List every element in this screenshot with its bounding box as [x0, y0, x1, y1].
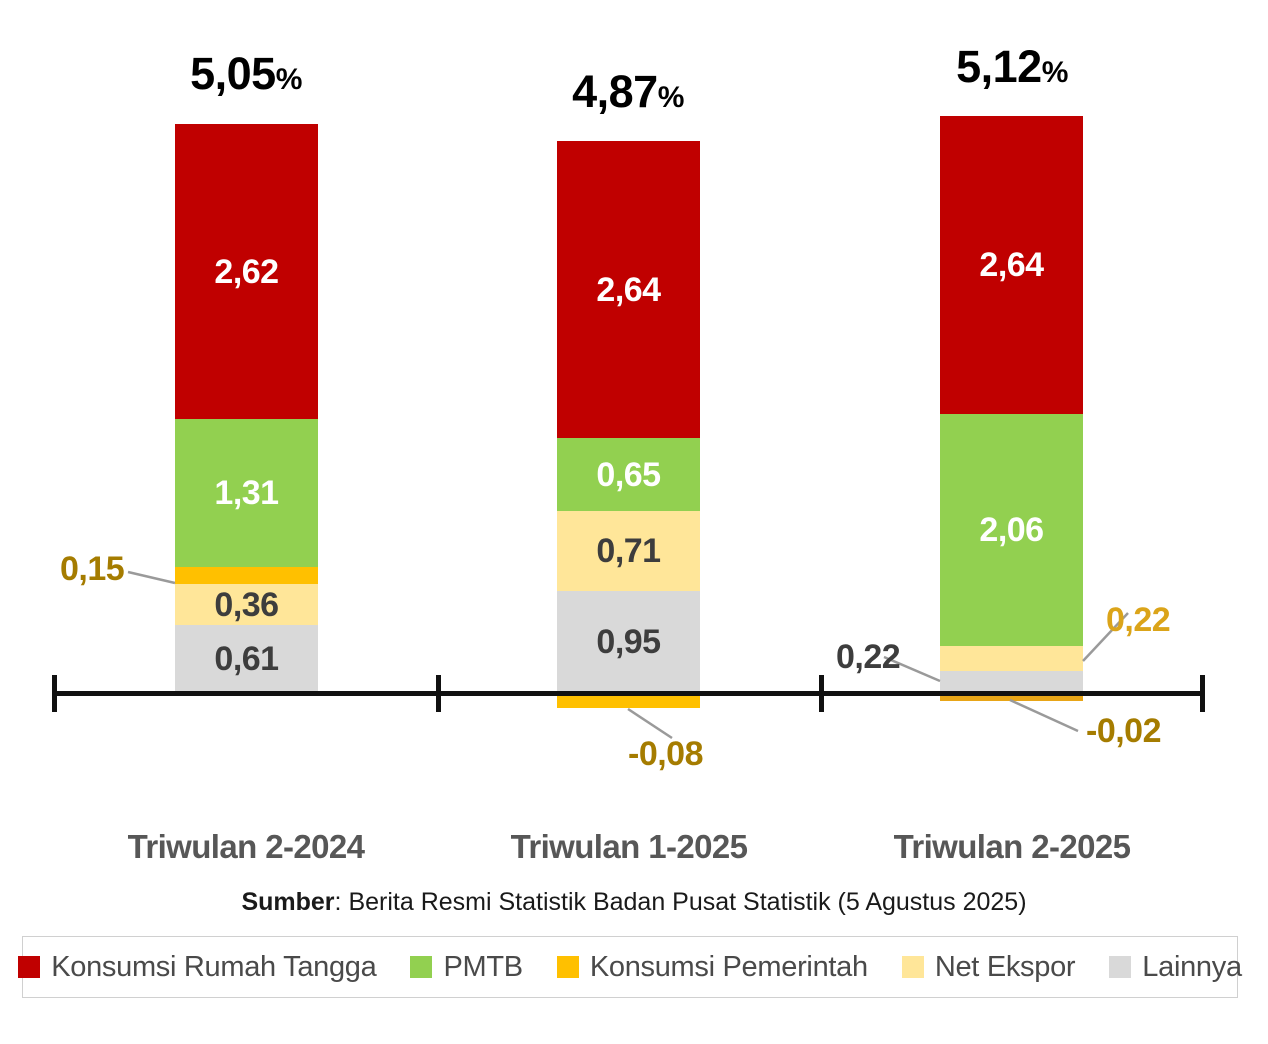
- legend-label: Net Ekspor: [935, 951, 1075, 984]
- bar-total-percent-2: %: [658, 81, 684, 114]
- source-text: : Berita Resmi Statistik Badan Pusat Sta…: [335, 888, 1027, 916]
- bar-total-label-3: 5,12%: [882, 41, 1142, 93]
- legend-swatch-icon: [18, 956, 40, 978]
- legend-item-konsumsi-rumah-tangga[interactable]: Konsumsi Rumah Tangga: [18, 951, 376, 984]
- bar-total-percent-1: %: [276, 63, 302, 96]
- segment-konsumsi-rumah-tangga-1[interactable]: 2,62: [175, 124, 318, 419]
- category-label-triwulan-2-2024: Triwulan 2-2024: [54, 828, 438, 866]
- segment-net-ekspor-1[interactable]: 0,36: [175, 584, 318, 625]
- segment-konsumsi-pemerintah-2[interactable]: [557, 696, 700, 708]
- callout-konsumsi-pemerintah-1: 0,15: [60, 552, 124, 586]
- segment-pmtb-1[interactable]: 1,31: [175, 419, 318, 567]
- legend-swatch-icon: [902, 956, 924, 978]
- legend-label: Konsumsi Pemerintah: [590, 951, 868, 984]
- segment-value-label: 2,06: [979, 513, 1043, 547]
- segment-lainnya-1[interactable]: 0,61: [175, 625, 318, 693]
- axis-tick-0: [52, 675, 57, 712]
- bar-total-percent-3: %: [1042, 56, 1068, 89]
- segment-pmtb-3[interactable]: 2,06: [940, 414, 1083, 646]
- segment-value-label: 0,36: [214, 588, 278, 622]
- callout-lainnya-3: 0,22: [836, 640, 900, 674]
- segment-lainnya-3[interactable]: [940, 671, 1083, 693]
- axis-tick-1: [436, 675, 441, 712]
- x-axis-line: [52, 691, 1204, 696]
- bar-total-value-2: 4,87: [572, 66, 658, 117]
- plot-area: 5,05% 2,62 1,31 0,36 0,61: [0, 0, 1268, 880]
- segment-value-label: 1,31: [214, 476, 278, 510]
- bar-total-value-3: 5,12: [956, 41, 1042, 92]
- segment-value-label: 2,64: [979, 248, 1043, 282]
- legend-swatch-icon: [410, 956, 432, 978]
- legend-label: PMTB: [443, 951, 522, 984]
- segment-lainnya-2[interactable]: 0,95: [557, 591, 700, 693]
- segment-net-ekspor-3[interactable]: [940, 646, 1083, 671]
- callout-konsumsi-pemerintah-3: -0,02: [1086, 714, 1161, 748]
- legend-swatch-icon: [1109, 956, 1131, 978]
- callout-net-ekspor-3: 0,22: [1106, 603, 1170, 637]
- source-label: Sumber: [241, 888, 334, 916]
- bar-total-label-2: 4,87%: [498, 66, 758, 118]
- chart-legend: Konsumsi Rumah Tangga PMTB Konsumsi Peme…: [22, 936, 1238, 998]
- segment-konsumsi-rumah-tangga-2[interactable]: 2,64: [557, 141, 700, 438]
- segment-value-label: 2,64: [596, 273, 660, 307]
- bar-total-value-1: 5,05: [190, 48, 276, 99]
- legend-item-lainnya[interactable]: Lainnya: [1109, 951, 1242, 984]
- legend-item-konsumsi-pemerintah[interactable]: Konsumsi Pemerintah: [557, 951, 868, 984]
- category-label-triwulan-2-2025: Triwulan 2-2025: [820, 828, 1204, 866]
- segment-value-label: 0,65: [596, 458, 660, 492]
- segment-konsumsi-pemerintah-1[interactable]: [175, 567, 318, 584]
- legend-item-net-ekspor[interactable]: Net Ekspor: [902, 951, 1075, 984]
- axis-tick-2: [819, 675, 824, 712]
- chart-root: 5,05% 2,62 1,31 0,36 0,61: [0, 0, 1268, 1044]
- source-note: Sumber: Berita Resmi Statistik Badan Pus…: [0, 888, 1268, 917]
- segment-value-label: 2,62: [214, 255, 278, 289]
- segment-net-ekspor-2[interactable]: 0,71: [557, 511, 700, 591]
- bar-total-label-1: 5,05%: [116, 48, 376, 100]
- segment-konsumsi-pemerintah-3[interactable]: [940, 696, 1083, 701]
- segment-value-label: 0,71: [596, 534, 660, 568]
- segment-pmtb-2[interactable]: 0,65: [557, 438, 700, 511]
- legend-label: Konsumsi Rumah Tangga: [51, 951, 376, 984]
- legend-label: Lainnya: [1142, 951, 1242, 984]
- legend-item-pmtb[interactable]: PMTB: [410, 951, 522, 984]
- callout-konsumsi-pemerintah-2: -0,08: [628, 737, 703, 771]
- segment-value-label: 0,61: [214, 642, 278, 676]
- segment-konsumsi-rumah-tangga-3[interactable]: 2,64: [940, 116, 1083, 414]
- category-label-triwulan-1-2025: Triwulan 1-2025: [437, 828, 821, 866]
- axis-tick-3: [1200, 675, 1205, 712]
- legend-swatch-icon: [557, 956, 579, 978]
- segment-value-label: 0,95: [596, 625, 660, 659]
